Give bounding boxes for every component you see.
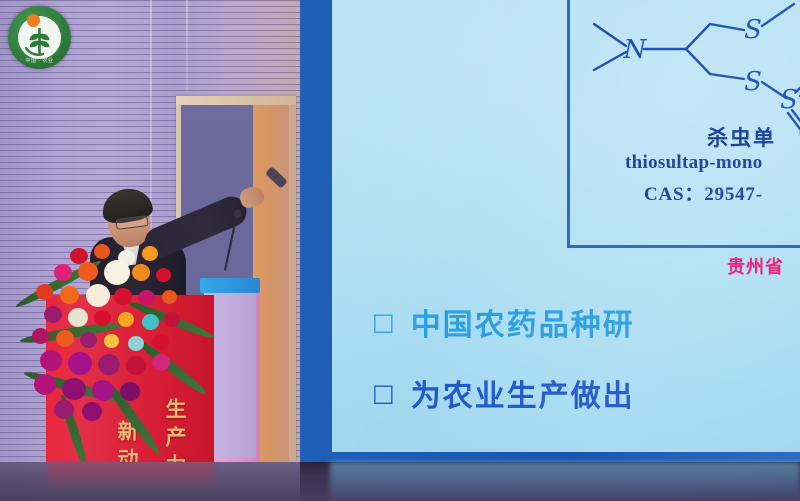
cas-number: 29547- [704, 184, 763, 205]
flower-blossom [114, 288, 132, 305]
chemical-name-cn: 杀虫单 [707, 122, 776, 152]
flower-blossom [44, 306, 62, 323]
flower-blossom [32, 328, 49, 344]
chemical-structure-diagram: N S S O O S S O O O [582, 0, 800, 136]
bullet-square-icon: □ [372, 310, 397, 334]
chemical-cas-line: CAS：29547- [644, 179, 763, 206]
flower-blossom [104, 260, 130, 285]
emblem-caption: 中国 · 农业 [8, 57, 71, 64]
flower-blossom [120, 382, 140, 401]
organization-line: 贵州省 [727, 253, 784, 279]
presentation-scene: 中国 · 农业 [0, 0, 800, 501]
flower-blossom [94, 244, 110, 259]
flower-blossom [56, 330, 74, 347]
microphone-head-icon [234, 209, 241, 218]
flower-blossom [128, 336, 144, 351]
flower-blossom [54, 264, 72, 281]
slide-bullet-list: □ 中国农药品种研 □ 为农业生产做出 [372, 300, 800, 415]
emblem-sun-icon [27, 14, 40, 27]
flower-blossom [132, 264, 150, 281]
flower-blossom [152, 354, 170, 371]
flower-blossom [164, 312, 180, 327]
flower-blossom [94, 310, 111, 326]
flower-blossom [78, 262, 98, 281]
flower-blossom [34, 374, 56, 395]
flower-blossom [142, 246, 158, 261]
flower-blossom [118, 312, 134, 327]
chemical-name-en: thiosultap-mono [625, 152, 763, 174]
flower-blossom [142, 314, 159, 330]
flower-blossom [156, 268, 171, 282]
svg-text:S: S [744, 15, 762, 45]
slide-bullet-text: 为农业生产做出 [411, 371, 635, 415]
projection-screen: N S S O O S S O O O 杀虫单 thiosultap-mono … [332, 0, 800, 452]
flower-blossom [54, 400, 74, 419]
flower-blossom [104, 334, 119, 348]
flower-blossom [40, 350, 62, 371]
flower-blossom [68, 308, 88, 327]
flower-blossom [138, 290, 155, 306]
flower-blossom [86, 284, 110, 307]
palm-frond [135, 337, 209, 398]
flower-blossom [162, 290, 177, 304]
floor-podium-reflection [48, 462, 214, 492]
flower-blossom [98, 354, 120, 375]
slide-bullet-item: □ 为农业生产做出 [372, 371, 800, 415]
bullet-square-icon: □ [372, 381, 397, 405]
floor-screen-reflection [330, 462, 800, 501]
flower-blossom [92, 380, 114, 401]
flower-blossom [68, 352, 92, 375]
agriculture-emblem-icon: 中国 · 农业 [8, 6, 71, 69]
cas-label: CAS： [644, 184, 704, 205]
slide-bullet-item: □ 中国农药品种研 [372, 300, 800, 344]
flower-blossom [36, 284, 53, 300]
slide-bullet-text: 中国农药品种研 [411, 300, 635, 344]
svg-text:S: S [744, 67, 762, 97]
flower-blossom [152, 334, 169, 350]
flower-blossom [80, 332, 97, 348]
flower-blossom [126, 356, 146, 375]
flower-blossom [82, 402, 102, 421]
svg-text:S: S [780, 85, 798, 115]
flower-blossom [60, 286, 79, 304]
floral-arrangement [10, 240, 220, 430]
wall-seam [186, 0, 188, 92]
flower-blossom [62, 378, 86, 400]
svg-text:N: N [623, 35, 648, 65]
doorway-lintel [176, 96, 296, 105]
